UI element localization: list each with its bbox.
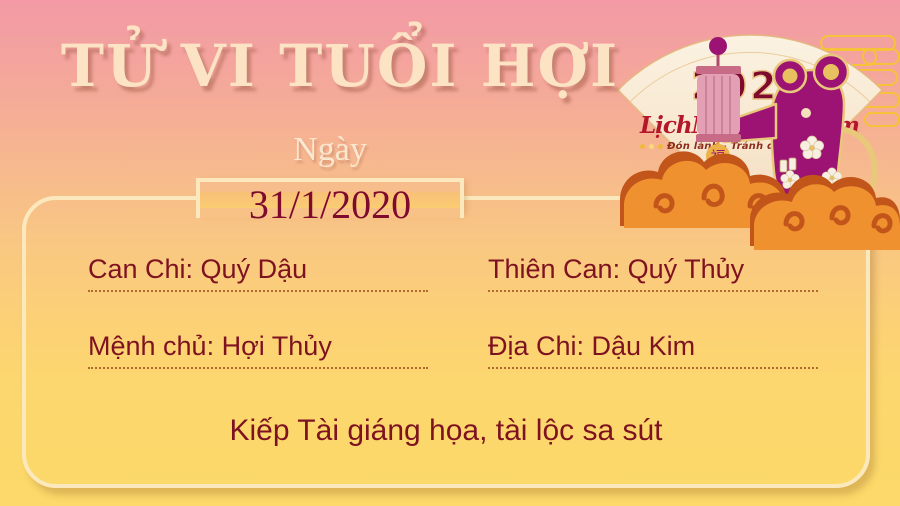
field-thien-can: Thiên Can: Quý Thủy (488, 254, 818, 292)
brand-logo-text: LịchNgàyTỐT.com (640, 112, 859, 139)
brand-tagline: Đón lành - Tránh dữ (667, 141, 782, 152)
logo-year: 2020 (600, 64, 900, 108)
field-dia-chi: Địa Chi: Dậu Kim (488, 331, 818, 369)
logo-year-text: 2020 (691, 64, 809, 108)
tagline-dot-icon (658, 144, 663, 149)
day-label: Ngày (190, 131, 470, 169)
field-can-chi: Can Chi: Quý Dậu (88, 254, 428, 292)
info-fields: Can Chi: Quý Dậu Thiên Can: Quý Thủy Mện… (22, 196, 870, 488)
horoscope-graphic: 2020 LịchNgàyTỐT.com Đón lành - Tránh dữ (0, 0, 900, 506)
tagline-dot-icon (649, 144, 654, 149)
field-menh-chu: Mệnh chủ: Hợi Thủy (88, 331, 428, 369)
verdict-text: Kiếp Tài giáng họa, tài lộc sa sút (22, 414, 870, 448)
page-title: TỬ VI TUỔI HỢI (0, 32, 680, 100)
yin-yang-icon (726, 118, 743, 135)
brand-logo[interactable]: LịchNgàyTỐT.com Đón lành - Tránh dữ (640, 112, 820, 152)
tagline-dot-icon (640, 144, 645, 149)
